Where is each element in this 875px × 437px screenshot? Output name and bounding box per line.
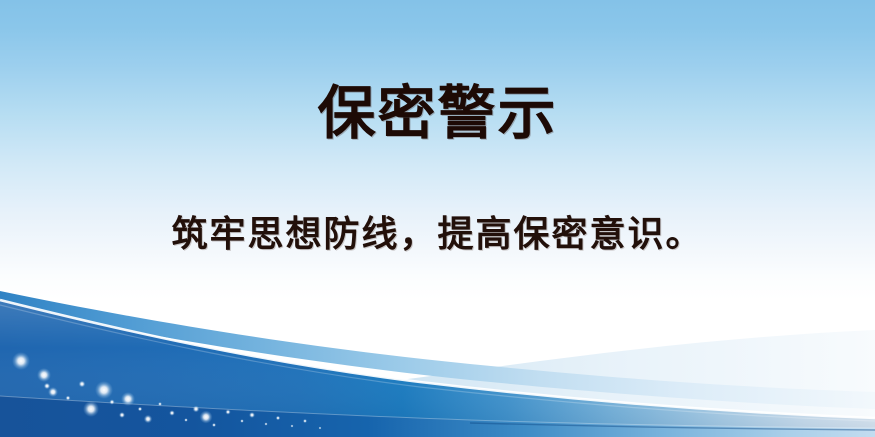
poster-text-layer: 保密警示 筑牢思想防线，提高保密意识。 xyxy=(0,0,875,437)
poster-subtitle: 筑牢思想防线，提高保密意识。 xyxy=(0,212,875,258)
poster-canvas: 保密警示 筑牢思想防线，提高保密意识。 xyxy=(0,0,875,437)
page-title: 保密警示 xyxy=(0,78,875,148)
